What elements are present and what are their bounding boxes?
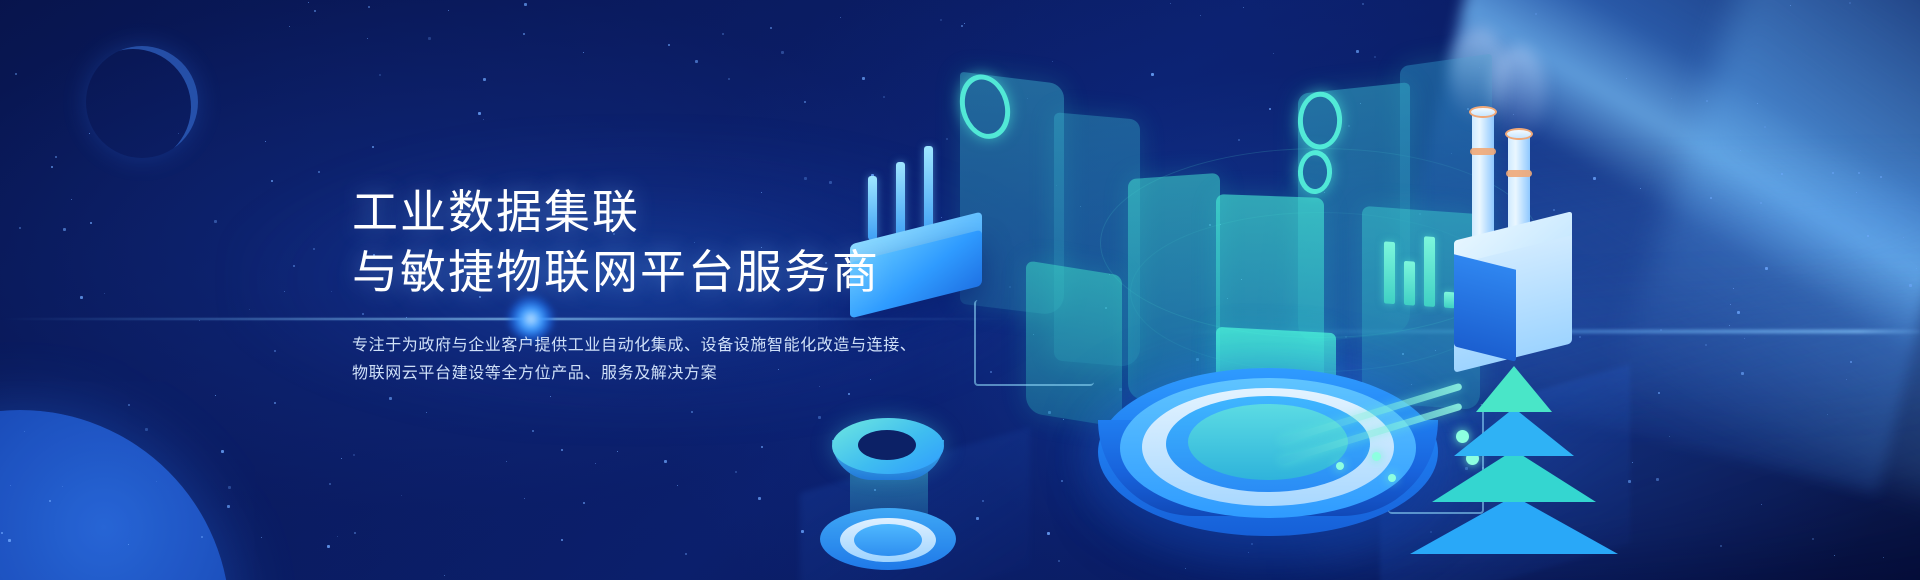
smokestack-band-2: [1506, 170, 1532, 177]
ring-chart-icon-3: [1296, 147, 1334, 197]
smokestack-cap-1: [1469, 106, 1497, 118]
hero-banner: 工业数据集联 与敏捷物联网平台服务商 专注于为政府与企业客户提供工业自动化集成、…: [0, 0, 1920, 580]
bar-chart-bar-3: [1424, 236, 1435, 307]
data-panel-3: [1128, 173, 1220, 401]
subcopy-line-2: 物联网云平台建设等全方位产品、服务及解决方案: [352, 360, 1012, 388]
beam-pulse-1: [1372, 452, 1381, 461]
beam-pulse-2: [1336, 462, 1344, 470]
ring-chart-icon-2: [1295, 87, 1345, 153]
planet-sphere: [0, 410, 230, 580]
subcopy-line-1: 专注于为政府与企业客户提供工业自动化集成、设备设施智能化改造与连接、: [352, 332, 1012, 360]
bar-chart-bar-2: [1404, 261, 1415, 306]
pyramid-tier-4: [1410, 496, 1618, 554]
crescent-moon-icon: [86, 46, 198, 158]
factory-front-face: [1454, 254, 1516, 361]
small-pad-center: [854, 524, 922, 556]
ring-chart-icon-1: [956, 74, 1014, 139]
platform-ring-4: [1188, 404, 1348, 480]
pyramid-tier-2: [1454, 408, 1574, 456]
smokestack-cap-2: [1505, 128, 1533, 140]
hero-copy: 工业数据集联 与敏捷物联网平台服务商 专注于为政府与企业客户提供工业自动化集成、…: [352, 182, 1052, 388]
donut-device-hole: [858, 430, 916, 460]
pyramid-tier-1: [1476, 366, 1552, 412]
smoke-plume-2: [1490, 46, 1546, 138]
bar-chart-bar-1: [1384, 241, 1395, 304]
headline-line-2: 与敏捷物联网平台服务商: [352, 242, 1052, 302]
smokestack-band-1: [1470, 148, 1496, 155]
pyramid-tier-3: [1432, 450, 1596, 502]
hero-illustration: [980, 0, 1920, 580]
headline-line-1: 工业数据集联: [352, 182, 1052, 242]
